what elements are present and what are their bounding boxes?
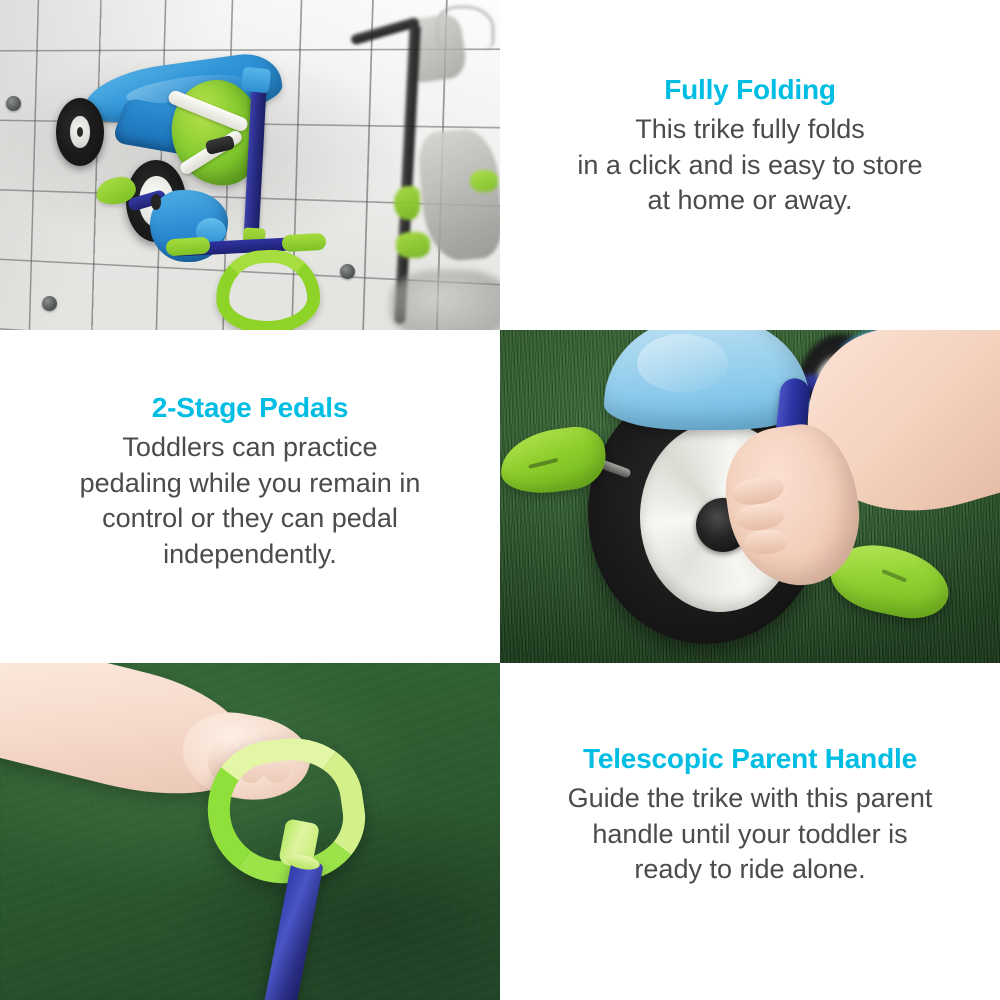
wall-mount-dot bbox=[6, 96, 21, 111]
feature-two-stage-pedals: 2-Stage Pedals Toddlers can practice ped… bbox=[0, 330, 500, 663]
feature-fully-folding: Fully Folding This trike fully folds in … bbox=[500, 0, 1000, 330]
feature-text-block: Telescopic Parent Handle Guide the trike… bbox=[500, 663, 1000, 1000]
feature-body-line: in a click and is easy to store bbox=[577, 148, 922, 184]
infographic-root: Fully Folding This trike fully folds in … bbox=[0, 0, 1000, 1000]
feature-body-line: This trike fully folds bbox=[577, 112, 922, 148]
photo-canvas bbox=[0, 0, 500, 330]
scooter-green-part bbox=[394, 186, 420, 220]
background-scooter bbox=[340, 0, 500, 330]
photo-canvas bbox=[0, 663, 500, 1000]
feature-body-line: control or they can pedal bbox=[80, 501, 421, 537]
feature-text-block: 2-Stage Pedals Toddlers can practice ped… bbox=[0, 330, 500, 663]
trike-rear-wheel bbox=[56, 98, 104, 166]
feature-body-line: at home or away. bbox=[577, 183, 922, 219]
scooter-green-part bbox=[470, 170, 498, 192]
feature-heading: Fully Folding bbox=[664, 74, 836, 106]
feature-body-line: independently. bbox=[80, 537, 421, 573]
feature-body-line: Toddlers can practice bbox=[80, 430, 421, 466]
feature-heading: 2-Stage Pedals bbox=[152, 392, 348, 424]
feature-body-line: pedaling while you remain in bbox=[80, 466, 421, 502]
photo-folded-trike-on-wall bbox=[0, 0, 500, 330]
scooter-base-blur bbox=[390, 270, 500, 330]
scooter-green-part bbox=[396, 232, 430, 258]
trike-grip-right bbox=[282, 233, 327, 252]
feature-body-line: handle until your toddler is bbox=[568, 817, 933, 853]
trike-grip-left bbox=[165, 236, 210, 256]
feature-text-block: Fully Folding This trike fully folds in … bbox=[500, 0, 1000, 330]
photo-canvas bbox=[500, 330, 1000, 663]
feature-heading: Telescopic Parent Handle bbox=[583, 743, 917, 775]
feature-body-line: ready to ride alone. bbox=[568, 852, 933, 888]
feature-telescopic-parent-handle: Telescopic Parent Handle Guide the trike… bbox=[500, 663, 1000, 1000]
feature-body: This trike fully folds in a click and is… bbox=[577, 112, 922, 219]
trike-pole-cap bbox=[241, 67, 271, 94]
feature-body: Guide the trike with this parent handle … bbox=[568, 781, 933, 888]
feature-body-line: Guide the trike with this parent bbox=[568, 781, 933, 817]
feature-body: Toddlers can practice pedaling while you… bbox=[80, 430, 421, 573]
photo-front-wheel-pedals bbox=[500, 330, 1000, 663]
wall-mount-dot bbox=[42, 296, 57, 311]
photo-parent-handle bbox=[0, 663, 500, 1000]
